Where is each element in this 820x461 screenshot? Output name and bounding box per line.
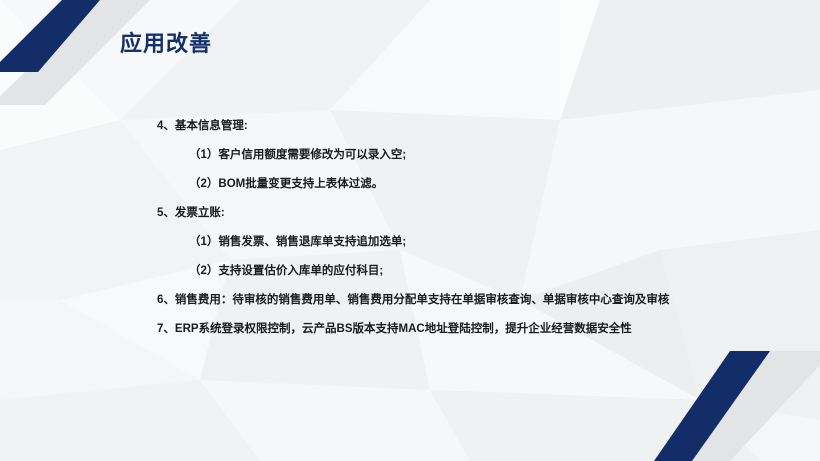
bullet-line: （1）客户信用额度需要修改为可以录入空;	[0, 141, 820, 170]
page-title: 应用改善	[120, 26, 212, 58]
bullet-line: （1）销售发票、销售退库单支持追加选单;	[0, 228, 820, 257]
bullet-line: （2）支持设置估价入库单的应付科目;	[0, 257, 820, 286]
bullet-line: 6、销售费用：待审核的销售费用单、销售费用分配单支持在单据审核查询、单据审核中心…	[0, 286, 820, 315]
bullet-line: （2）BOM批量变更支持上表体过滤。	[0, 170, 820, 199]
bottom-right-diagonal-decoration	[620, 351, 820, 461]
bullet-line: 7、ERP系统登录权限控制，云产品BS版本支持MAC地址登陆控制，提升企业经营数…	[0, 315, 820, 344]
bullet-line: 4、基本信息管理:	[0, 112, 820, 141]
bullet-line: 5、发票立账:	[0, 199, 820, 228]
top-left-diagonal-decoration	[0, 0, 210, 130]
presentation-slide: 应用改善 4、基本信息管理: （1）客户信用额度需要修改为可以录入空; （2）B…	[0, 0, 820, 461]
slide-body: 4、基本信息管理: （1）客户信用额度需要修改为可以录入空; （2）BOM批量变…	[0, 112, 820, 344]
